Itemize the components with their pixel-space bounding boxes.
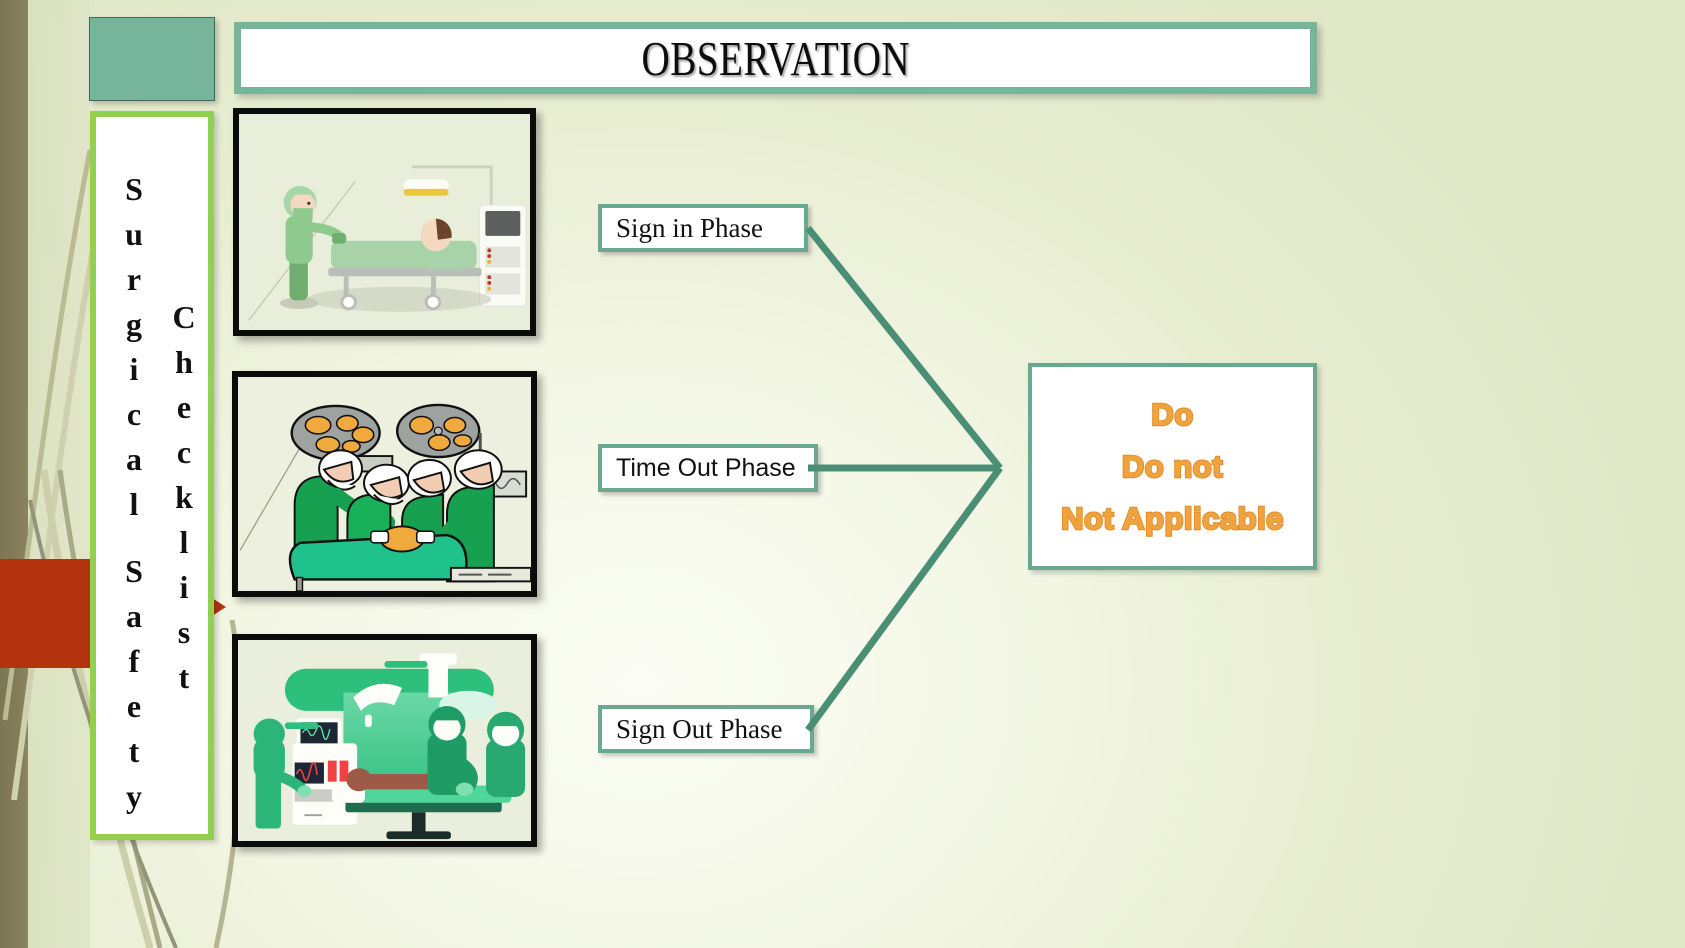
vertical-label-panel: SurgicalSafety Checklist (90, 111, 214, 840)
decorative-teal-block (89, 17, 215, 101)
slide-canvas: OBSERVATION SurgicalSafety Checklist (0, 0, 1685, 948)
page-title: OBSERVATION (234, 22, 1317, 94)
image-operating-room-team (232, 634, 537, 847)
decorative-red-block (0, 559, 90, 668)
or-flat-illustration (238, 640, 531, 841)
image-preop-holding (233, 108, 536, 336)
vertical-text-surgical-safety: SurgicalSafety (114, 167, 154, 819)
phase-box-sign-out[interactable]: Sign Out Phase (598, 705, 814, 753)
decorative-left-wash (28, 0, 90, 948)
decorative-red-arrow-tip (212, 598, 226, 616)
phase-box-sign-in[interactable]: Sign in Phase (598, 204, 808, 252)
phase-box-time-out[interactable]: Time Out Phase (598, 444, 818, 492)
result-option-do: Do (1151, 397, 1193, 433)
result-option-do-not: Do not (1122, 449, 1223, 485)
result-option-not-applicable: Not Applicable (1061, 501, 1284, 537)
decorative-left-band (0, 0, 28, 948)
page-title-text: OBSERVATION (641, 30, 909, 87)
preop-illustration (239, 114, 530, 330)
phase-label: Sign in Phase (616, 213, 763, 244)
phase-label: Time Out Phase (616, 454, 796, 483)
phase-label: Sign Out Phase (616, 714, 783, 745)
vertical-text-checklist: Checklist (164, 295, 204, 700)
image-surgical-team-operating (232, 371, 537, 597)
result-options-box: Do Do not Not Applicable (1028, 363, 1317, 570)
operating-team-illustration (238, 377, 531, 591)
